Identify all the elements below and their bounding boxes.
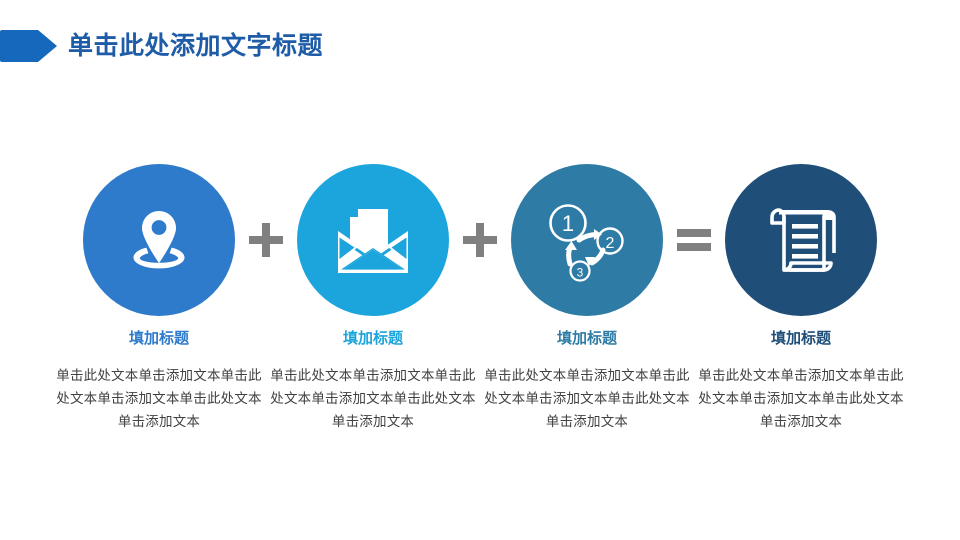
scroll-document-icon	[757, 196, 845, 284]
caption-col-2: 填加标题 单击此处文本单击添加文本单击此处文本单击添加文本单击此处文本单击添加文…	[266, 330, 480, 434]
caption-title-4: 填加标题	[698, 330, 904, 348]
banner-arrow-right-icon	[0, 28, 58, 64]
caption-col-4: 填加标题 单击此处文本单击添加文本单击此处文本单击添加文本单击此处文本单击添加文…	[694, 330, 908, 434]
open-envelope-letter-icon	[328, 197, 418, 283]
svg-text:2: 2	[606, 235, 615, 252]
icon-circle-2[interactable]	[297, 164, 449, 316]
page-title: 单击此处添加文字标题	[68, 34, 323, 59]
plus-sign-1	[235, 223, 297, 257]
flow-row: 1 2 3	[0, 150, 960, 330]
equals-sign	[663, 228, 725, 252]
caption-title-2: 填加标题	[270, 330, 476, 348]
icon-circle-3[interactable]: 1 2 3	[511, 164, 663, 316]
caption-col-1: 填加标题 单击此处文本单击添加文本单击此处文本单击添加文本单击此处文本单击添加文…	[52, 330, 266, 434]
plus-sign-2	[449, 223, 511, 257]
caption-body-4: 单击此处文本单击添加文本单击此处文本单击添加文本单击此处文本单击添加文本	[698, 364, 904, 434]
svg-text:3: 3	[577, 266, 584, 280]
slide-header: 单击此处添加文字标题	[0, 26, 323, 66]
icon-circle-1[interactable]	[83, 164, 235, 316]
caption-row: 填加标题 单击此处文本单击添加文本单击此处文本单击添加文本单击此处文本单击添加文…	[0, 330, 960, 434]
svg-text:1: 1	[562, 211, 574, 236]
location-pin-icon	[116, 197, 202, 283]
caption-title-1: 填加标题	[56, 330, 262, 348]
caption-title-3: 填加标题	[484, 330, 690, 348]
caption-body-2: 单击此处文本单击添加文本单击此处文本单击添加文本单击此处文本单击添加文本	[270, 364, 476, 434]
caption-col-3: 填加标题 单击此处文本单击添加文本单击此处文本单击添加文本单击此处文本单击添加文…	[480, 330, 694, 434]
icon-circle-4[interactable]	[725, 164, 877, 316]
caption-body-1: 单击此处文本单击添加文本单击此处文本单击添加文本单击此处文本单击添加文本	[56, 364, 262, 434]
process-cycle-123-icon: 1 2 3	[539, 196, 635, 284]
caption-body-3: 单击此处文本单击添加文本单击此处文本单击添加文本单击此处文本单击添加文本	[484, 364, 690, 434]
